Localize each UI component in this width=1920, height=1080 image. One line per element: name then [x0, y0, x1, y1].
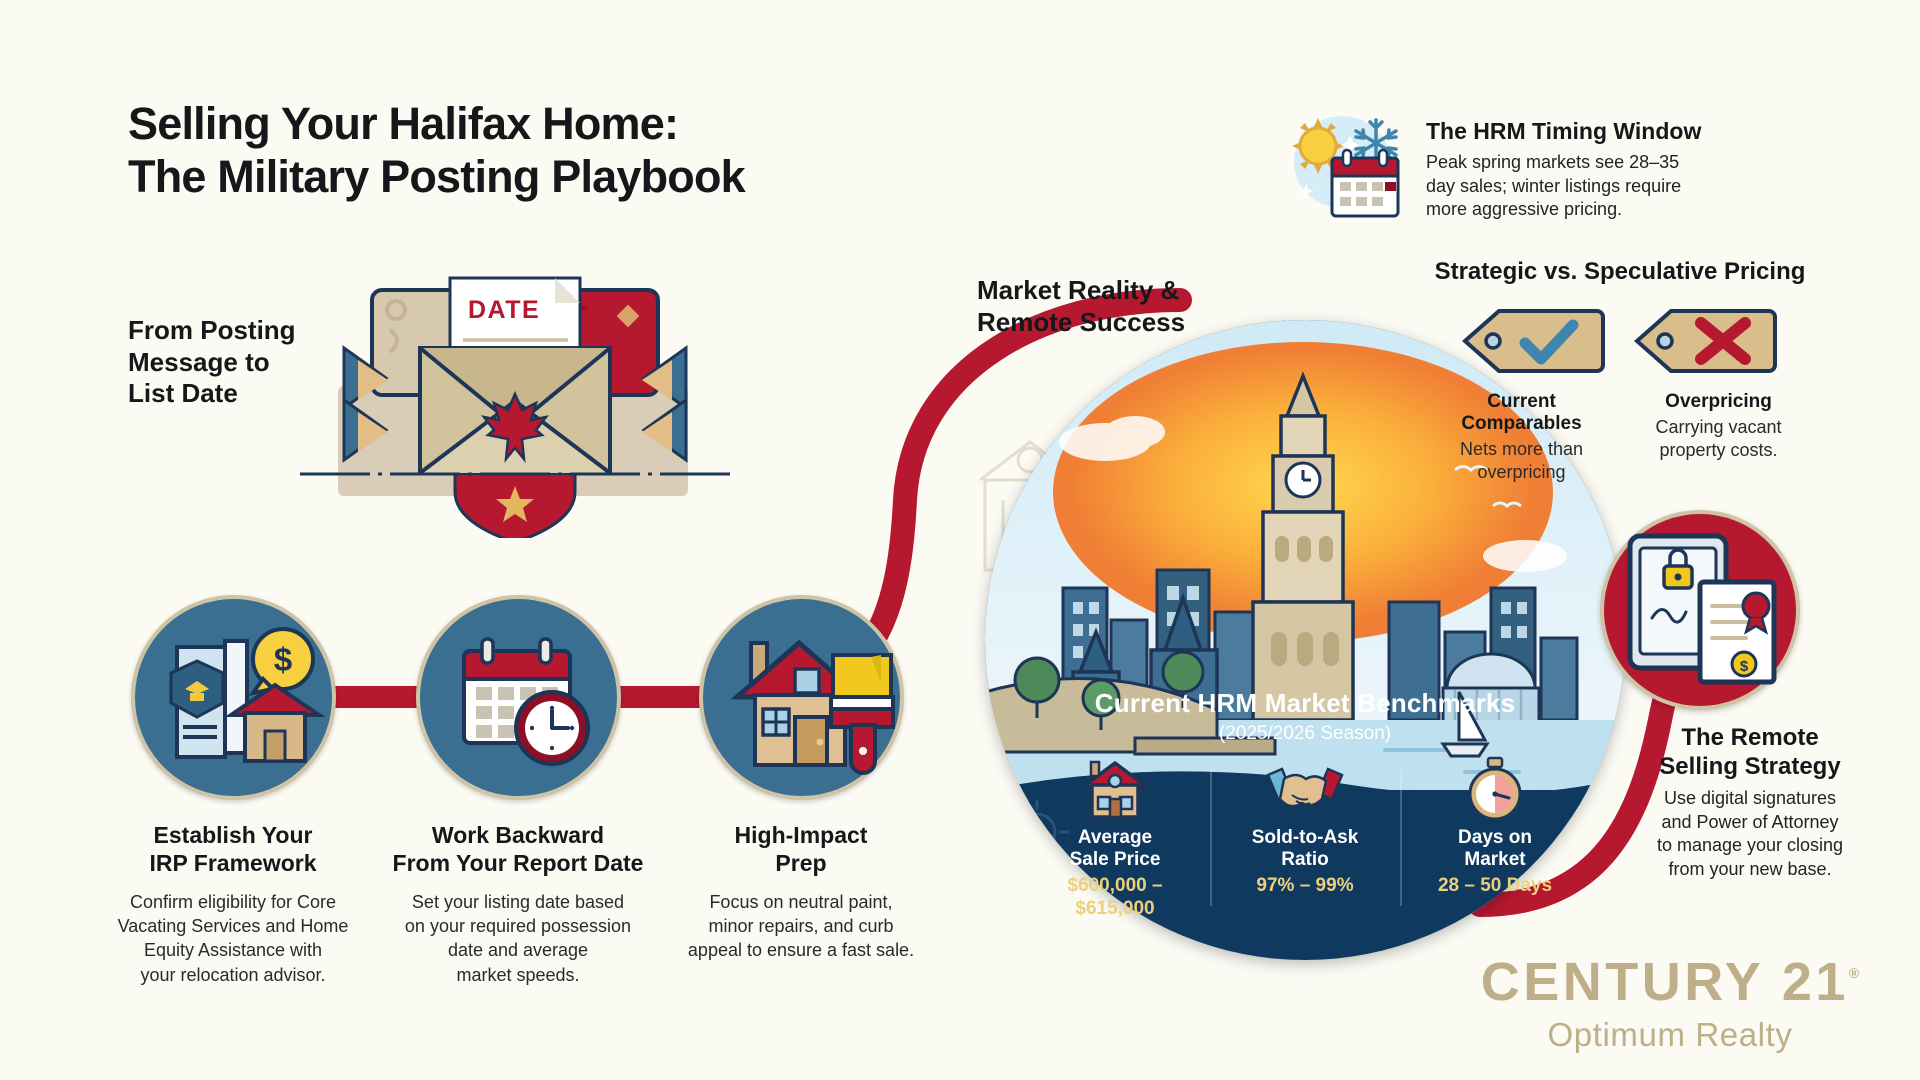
house-icon — [1026, 755, 1204, 823]
brand-name-text: CENTURY 21 — [1481, 952, 1849, 1012]
step-3-circle — [699, 595, 904, 800]
tag-cross-icon — [1631, 303, 1781, 379]
timing-window-card: The HRM Timing Window Peak spring market… — [1280, 110, 1910, 228]
benchmarks-metric-row: Average Sale Price $600,000 – $615,000 S… — [1000, 755, 1610, 920]
step-1-description: Confirm eligibility for Core Vacating Se… — [83, 890, 383, 986]
step-high-impact-prep[interactable]: High-Impact Prep Focus on neutral paint,… — [651, 595, 951, 963]
posting-envelope-illustration: DATE — [300, 248, 730, 538]
metric-0-label: Average Sale Price — [1026, 827, 1204, 872]
house-paintbrush-icon — [703, 599, 908, 804]
step-establish-irp-framework[interactable]: $ Establish Your IRP Framework Confirm e… — [83, 595, 383, 987]
section-heading-posting: From Posting Message to List Date — [128, 315, 296, 410]
pricing-option-0-text: Nets more than overpricing — [1429, 438, 1614, 485]
calendar-clock-icon — [420, 599, 625, 804]
metric-0-value: $600,000 – $615,000 — [1026, 875, 1204, 921]
tag-check-icon — [1459, 303, 1609, 379]
pricing-option-overpricing: Overpricing Carrying vacant property cos… — [1626, 391, 1811, 485]
brand-name: CENTURY 21® — [1455, 955, 1885, 1009]
handshake-icon — [1216, 755, 1394, 823]
metric-2-value: 28 – 50 Days — [1406, 875, 1584, 898]
guidebook-house-money-icon: $ — [135, 599, 340, 804]
pricing-strategy-card: Strategic vs. Speculative Pricing Curren… — [1420, 258, 1820, 485]
pricing-tag-row — [1420, 303, 1820, 379]
step-1-title: Establish Your IRP Framework — [83, 822, 383, 877]
step-2-title: Work Backward From Your Report Date — [368, 822, 668, 877]
pricing-option-0-heading: Current Comparables — [1429, 391, 1614, 435]
svg-text:$: $ — [273, 641, 291, 678]
pricing-card-title: Strategic vs. Speculative Pricing — [1420, 258, 1820, 287]
page-title: Selling Your Halifax Home: The Military … — [128, 98, 745, 203]
timing-card-description: Peak spring markets see 28–35 day sales;… — [1426, 151, 1701, 223]
pricing-option-1-heading: Overpricing — [1626, 391, 1811, 413]
pricing-tag-columns: Current Comparables Nets more than overp… — [1420, 391, 1820, 485]
pricing-option-comparables: Current Comparables Nets more than overp… — [1429, 391, 1614, 485]
remote-selling-card: The Remote Selling Strategy Use digital … — [1580, 520, 1920, 882]
brand-tagline: Optimum Realty — [1455, 1016, 1885, 1054]
infographic-canvas: Selling Your Halifax Home: The Military … — [0, 0, 1920, 1080]
step-2-description: Set your listing date based on your requ… — [368, 890, 668, 986]
benchmarks-subtitle: (2025/2026 Season) — [1000, 723, 1610, 745]
metric-2-label: Days on Market — [1406, 827, 1584, 872]
step-work-backward[interactable]: Work Backward From Your Report Date Set … — [368, 595, 668, 987]
stopwatch-icon — [1406, 755, 1584, 823]
benchmarks-title: Current HRM Market Benchmarks — [1000, 688, 1610, 719]
sun-snowflake-calendar-icon — [1280, 110, 1410, 228]
metric-1-label: Sold-to-Ask Ratio — [1216, 827, 1394, 872]
remote-card-description: Use digital signatures and Power of Atto… — [1580, 787, 1920, 883]
envelope-date-label: DATE — [468, 296, 540, 324]
step-3-title: High-Impact Prep — [651, 822, 951, 877]
metric-days-on-market: Days on Market 28 – 50 Days — [1400, 755, 1590, 920]
brand-logo: CENTURY 21® Optimum Realty — [1455, 955, 1885, 1054]
metric-sold-to-ask-ratio: Sold-to-Ask Ratio 97% – 99% — [1210, 755, 1400, 920]
step-1-circle: $ — [131, 595, 336, 800]
pricing-option-1-text: Carrying vacant property costs. — [1626, 416, 1811, 463]
brand-registered-mark: ® — [1849, 965, 1859, 981]
section-heading-market: Market Reality & Remote Success — [977, 275, 1185, 338]
remote-card-title: The Remote Selling Strategy — [1580, 724, 1920, 782]
step-3-description: Focus on neutral paint, minor repairs, a… — [651, 890, 951, 962]
metric-average-sale-price: Average Sale Price $600,000 – $615,000 — [1020, 755, 1210, 920]
metric-1-value: 97% – 99% — [1216, 875, 1394, 898]
market-benchmarks-panel: Current HRM Market Benchmarks (2025/2026… — [1000, 688, 1610, 963]
step-2-circle — [416, 595, 621, 800]
timing-card-title: The HRM Timing Window — [1426, 118, 1701, 146]
